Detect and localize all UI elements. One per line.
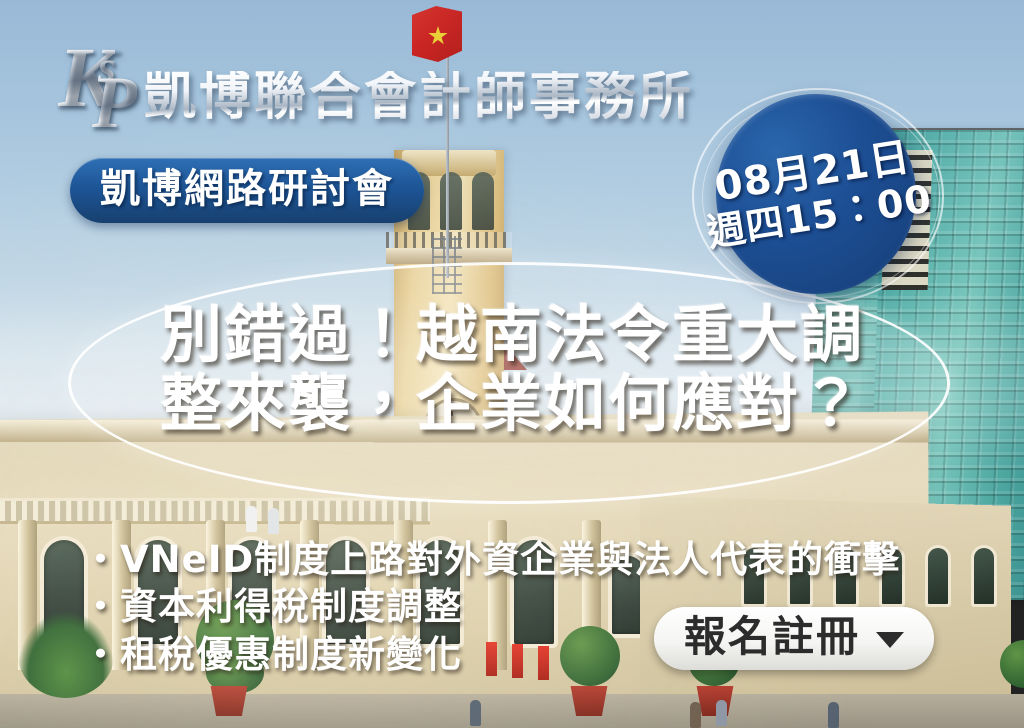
person-figure	[828, 702, 839, 728]
register-button[interactable]: 報名註冊	[654, 607, 934, 670]
webinar-badge: 凱博網路研討會	[70, 158, 424, 223]
webinar-promo-banner: K s P 凱博聯合會計師事務所 凱博網路研討會 08月21日 週四15：00 …	[0, 0, 1024, 728]
company-name: 凱博聯合會計師事務所	[144, 71, 694, 123]
clock-tower-arch	[472, 172, 494, 230]
register-button-label: 報名註冊	[684, 616, 860, 658]
headline-line-1: 別錯過！越南法令重大調	[0, 300, 1024, 369]
headline-line-2: 整來襲，企業如何應對？	[0, 369, 1024, 438]
city-hall-wing-window	[928, 548, 948, 604]
chevron-down-icon[interactable]	[876, 632, 904, 648]
list-item: ・VNeID制度上路對外資企業與法人代表的衝擊	[82, 536, 900, 583]
person-figure	[470, 700, 481, 726]
webinar-badge-label: 凱博網路研討會	[100, 166, 394, 212]
kp-monogram-icon: K s P	[58, 38, 136, 142]
city-hall-wing-window	[974, 548, 994, 604]
person-figure	[246, 506, 257, 532]
headline: 別錯過！越南法令重大調 整來襲，企業如何應對？	[0, 300, 1024, 439]
bullet-marker: ・	[82, 633, 120, 676]
bullet-marker: ・	[82, 538, 120, 581]
list-item-label: 租稅優惠制度新變化	[120, 633, 462, 676]
monogram-letter-p: P	[92, 66, 137, 140]
plaza-ground	[0, 694, 1024, 728]
event-date-badge: 08月21日 週四15：00	[692, 88, 944, 304]
list-item-label: 資本利得稅制度調整	[120, 585, 462, 628]
person-figure	[690, 702, 701, 728]
person-figure	[716, 700, 727, 726]
person-figure	[268, 508, 279, 534]
company-logo[interactable]: K s P 凱博聯合會計師事務所	[58, 38, 694, 142]
list-item-label: VNeID制度上路對外資企業與法人代表的衝擊	[120, 538, 900, 581]
bullet-marker: ・	[82, 585, 120, 628]
clock-tower-arch	[440, 172, 462, 230]
